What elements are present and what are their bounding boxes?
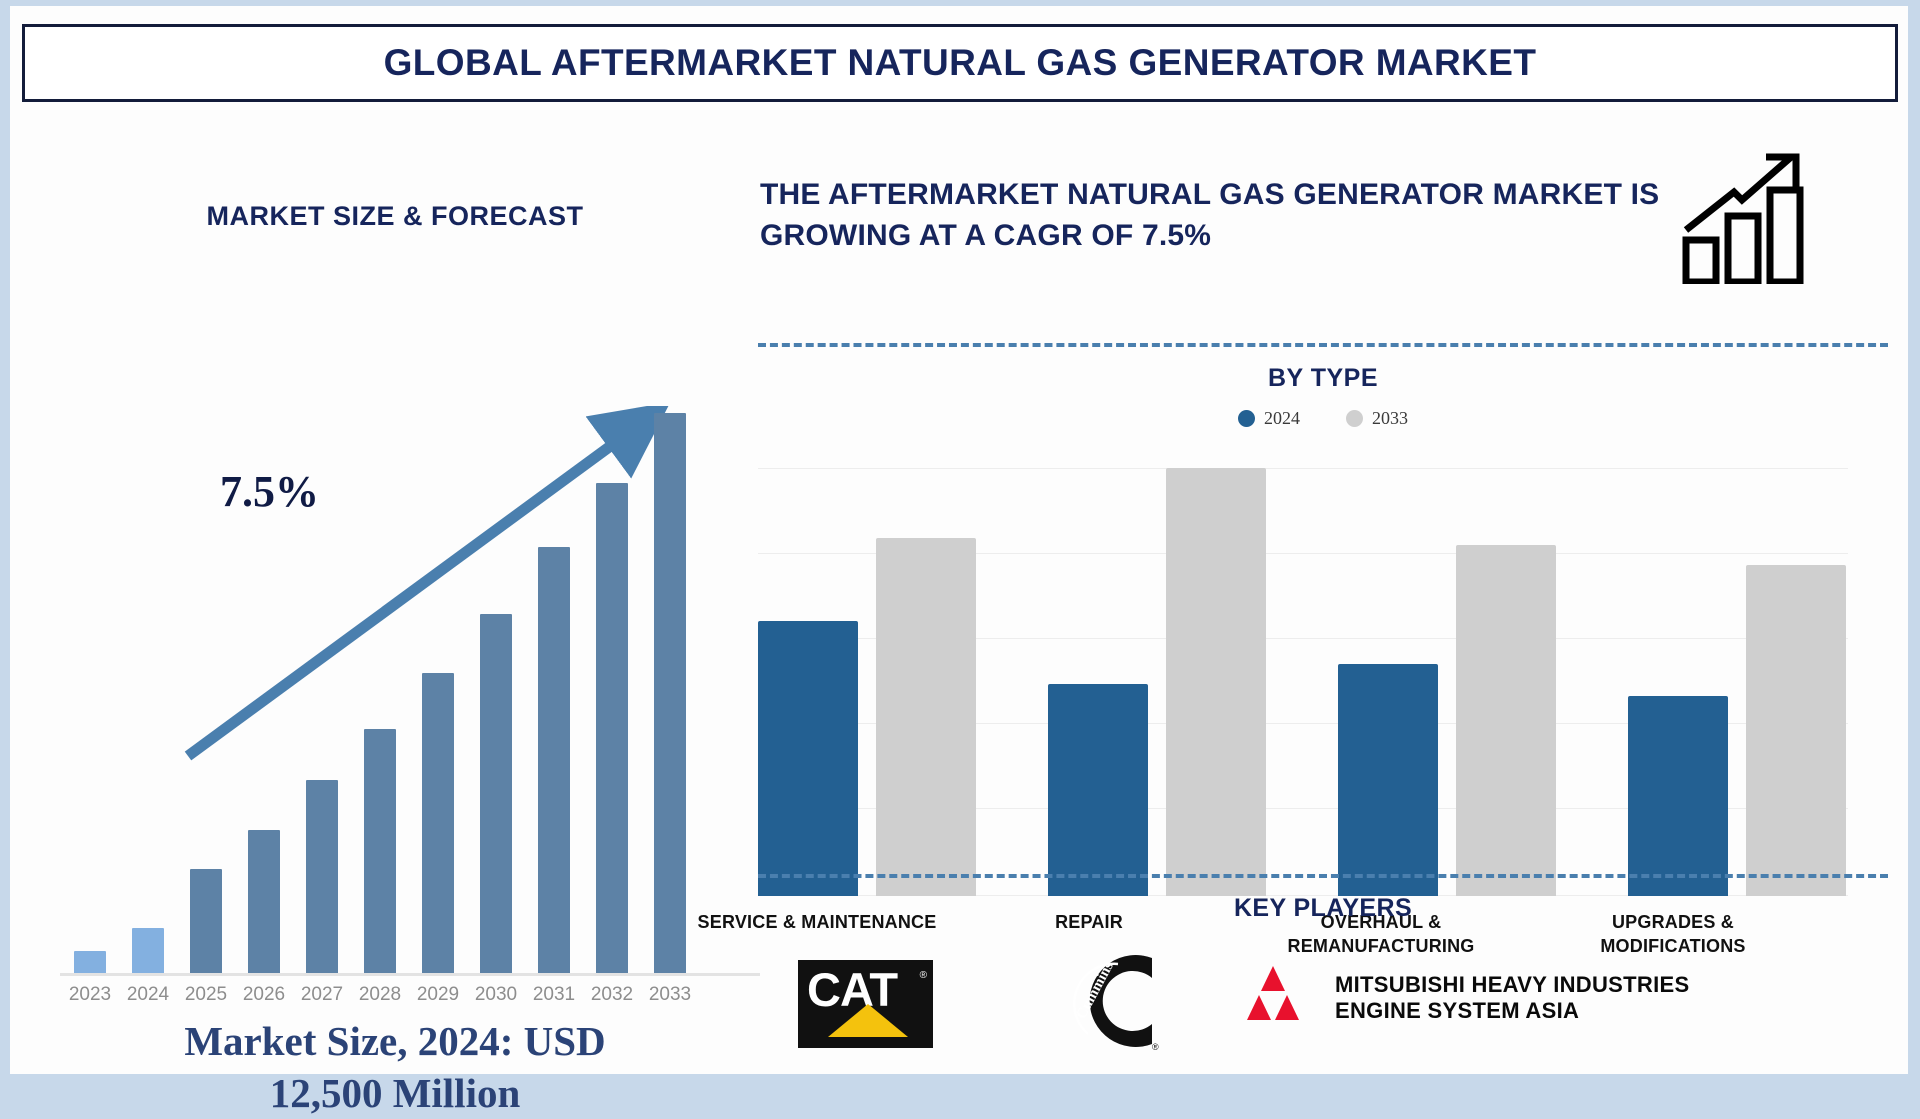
- hist-bar-2023: [74, 951, 106, 973]
- bar-upgrades-modifications-2033: [1746, 565, 1846, 896]
- cagr-statement: THE AFTERMARKET NATURAL GAS GENERATOR MA…: [760, 174, 1660, 257]
- year-label: 2029: [410, 984, 466, 1006]
- hist-bar-2030: [480, 614, 512, 973]
- market-size-bar-chart: [60, 416, 760, 976]
- year-label: 2030: [468, 984, 524, 1006]
- bar-service-maintenance-2024: [758, 621, 858, 896]
- market-size-heading: MARKET SIZE & FORECAST: [30, 201, 760, 232]
- hist-bar-2032: [596, 483, 628, 973]
- mitsubishi-three-diamonds-logo: [1223, 960, 1323, 1040]
- legend-color-swatch-2024: [1238, 410, 1255, 427]
- market-size-value: Market Size, 2024: USD 12,500 Million: [40, 1016, 750, 1119]
- by-type-title: BY TYPE: [758, 364, 1888, 393]
- separator-bottom: [758, 874, 1888, 878]
- bar-chart-growth-arrow-icon: [1678, 144, 1818, 284]
- hist-bar-2027: [306, 780, 338, 973]
- svg-text:®: ®: [1152, 1042, 1159, 1052]
- legend-label-2024: 2024: [1264, 408, 1300, 429]
- page-title-box: GLOBAL AFTERMARKET NATURAL GAS GENERATOR…: [22, 24, 1898, 102]
- registered-trademark-icon: ®: [920, 970, 927, 981]
- year-label: 2026: [236, 984, 292, 1006]
- by-type-legend: 2024 2033: [758, 408, 1888, 429]
- hist-bar-2025: [190, 869, 222, 973]
- infographic-card: GLOBAL AFTERMARKET NATURAL GAS GENERATOR…: [10, 6, 1908, 1074]
- market-detail-panel: THE AFTERMARKET NATURAL GAS GENERATOR MA…: [758, 116, 1908, 1066]
- cummins-logo: Cummins ®: [1048, 946, 1178, 1056]
- market-size-line-1: Market Size, 2024: USD: [40, 1016, 750, 1068]
- year-label: 2032: [584, 984, 640, 1006]
- hist-bar-2026: [248, 830, 280, 973]
- market-size-line-2: 12,500 Million: [40, 1068, 750, 1119]
- key-players-logos: CAT ® Cummins ®: [758, 946, 1888, 1056]
- bar-overhaul-remanufacturing-2024: [1338, 664, 1438, 896]
- year-label: 2024: [120, 984, 176, 1006]
- grid-line: [758, 468, 1848, 469]
- legend-item-2033: 2033: [1346, 408, 1408, 429]
- year-label: 2023: [62, 984, 118, 1006]
- hist-bar-2031: [538, 547, 570, 973]
- mitsubishi-wordmark-line-1: MITSUBISHI HEAVY INDUSTRIES: [1335, 972, 1689, 998]
- year-label: 2033: [642, 984, 698, 1006]
- mitsubishi-wordmark: MITSUBISHI HEAVY INDUSTRIES ENGINE SYSTE…: [1335, 972, 1689, 1025]
- year-label: 2031: [526, 984, 582, 1006]
- chart-baseline: [60, 973, 760, 976]
- page-title: GLOBAL AFTERMARKET NATURAL GAS GENERATOR…: [384, 42, 1537, 84]
- caterpillar-triangle-icon: [828, 1004, 908, 1037]
- bar-repair-2024: [1048, 684, 1148, 896]
- bar-repair-2033: [1166, 468, 1266, 896]
- market-size-panel: MARKET SIZE & FORECAST 7.5%: [30, 116, 760, 1066]
- legend-label-2033: 2033: [1372, 408, 1408, 429]
- by-type-bar-chart: [758, 446, 1848, 896]
- hist-bar-2029: [422, 673, 454, 973]
- hist-bar-2028: [364, 729, 396, 973]
- legend-color-swatch-2033: [1346, 410, 1363, 427]
- mitsubishi-wordmark-line-2: ENGINE SYSTEM ASIA: [1335, 998, 1689, 1024]
- legend-item-2024: 2024: [1238, 408, 1300, 429]
- mitsubishi-logo-block: MITSUBISHI HEAVY INDUSTRIES ENGINE SYSTE…: [1223, 960, 1833, 1040]
- infographic-page: GLOBAL AFTERMARKET NATURAL GAS GENERATOR…: [0, 0, 1920, 1080]
- separator-top: [758, 343, 1888, 347]
- hist-bar-2024: [132, 928, 164, 973]
- bar-service-maintenance-2033: [876, 538, 976, 896]
- key-players-title: KEY PLAYERS: [758, 894, 1888, 923]
- bar-upgrades-modifications-2024: [1628, 696, 1728, 896]
- year-label: 2027: [294, 984, 350, 1006]
- caterpillar-logo: CAT ®: [798, 960, 933, 1048]
- year-label: 2025: [178, 984, 234, 1006]
- hist-bar-2033: [654, 413, 686, 973]
- bar-overhaul-remanufacturing-2033: [1456, 545, 1556, 896]
- year-label: 2028: [352, 984, 408, 1006]
- year-axis-labels: 2023 2024 2025 2026 2027 2028 2029 2030 …: [60, 984, 760, 1018]
